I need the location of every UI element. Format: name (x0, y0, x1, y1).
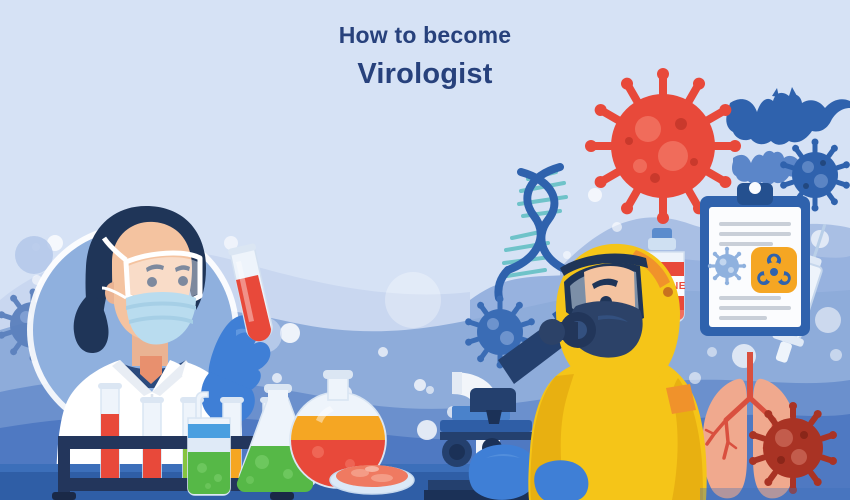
petri-dish (330, 465, 414, 494)
clipboard-virus-icon (708, 247, 746, 285)
illustration-canvas: VACCINE (0, 0, 850, 500)
virologist-illustration: VACCINE (0, 0, 850, 500)
clipboard (700, 182, 810, 336)
desk-right-strip (700, 488, 850, 500)
gloved-hand-on-stage (469, 445, 537, 500)
biohazard-badge (751, 247, 797, 293)
